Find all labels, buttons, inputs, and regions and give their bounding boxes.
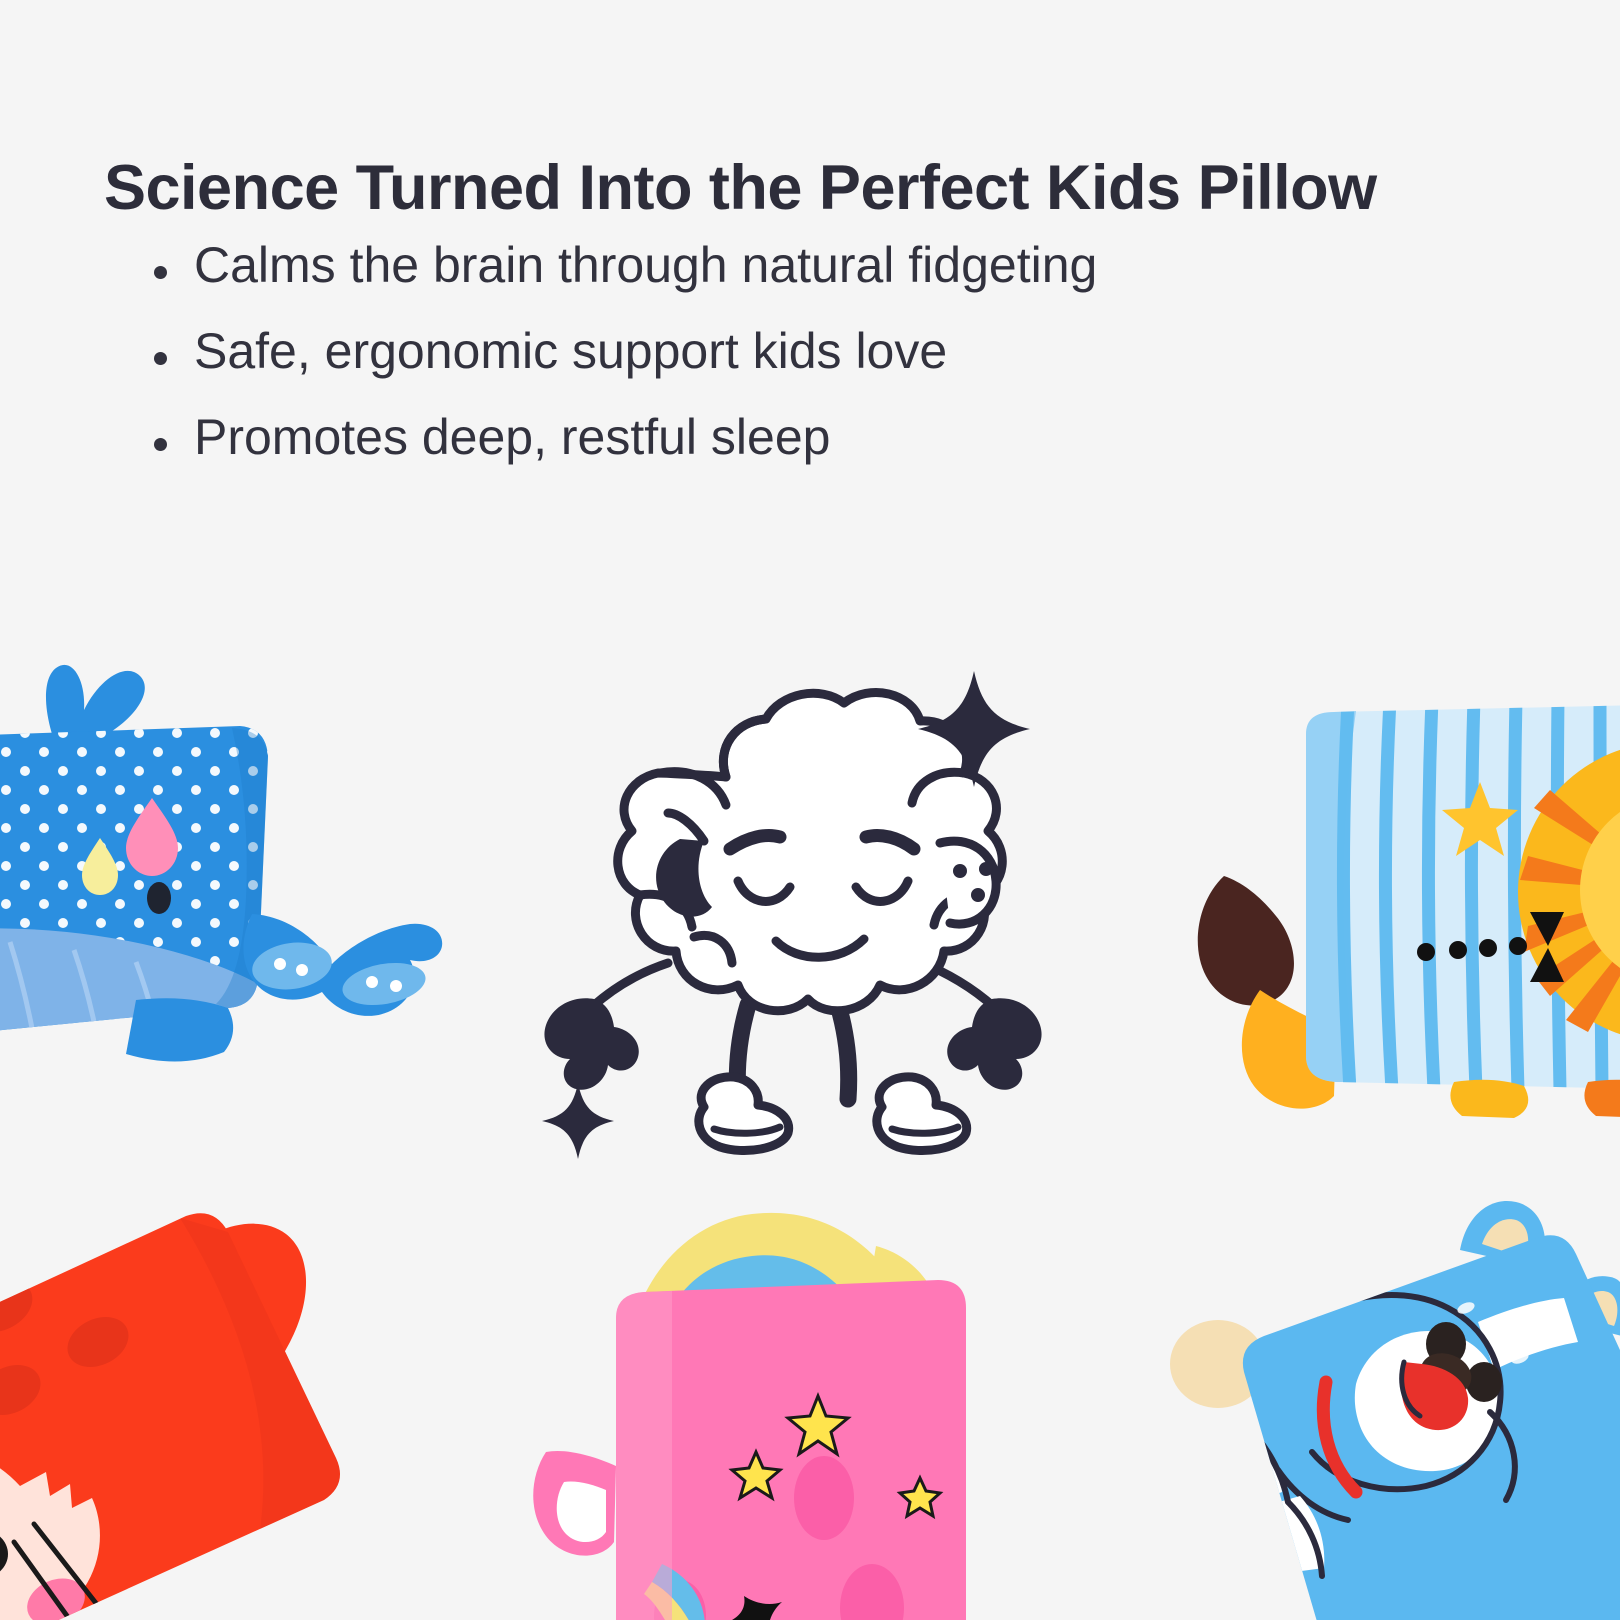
brain-character-image <box>508 655 1078 1160</box>
brain-left-hand <box>544 998 638 1090</box>
brain-right-leg <box>838 1005 849 1099</box>
whale-tail <box>243 914 442 1016</box>
list-item: Calms the brain through natural fidgetin… <box>146 240 1446 290</box>
benefits-list: Calms the brain through natural fidgetin… <box>146 240 1446 498</box>
list-item: Promotes deep, restful sleep <box>146 412 1446 462</box>
whale-fin <box>126 998 233 1061</box>
brain-left-foot <box>699 1077 789 1151</box>
promo-canvas: Science Turned Into the Perfect Kids Pil… <box>0 0 1620 1620</box>
dog-pillow-image <box>1160 1196 1620 1620</box>
brain-right-foot <box>877 1077 967 1151</box>
dog-right-eye <box>1466 1362 1502 1402</box>
list-item: Safe, ergonomic support kids love <box>146 326 1446 376</box>
unicorn-pillow-image <box>520 1198 980 1620</box>
brain-left-arm <box>592 963 668 1007</box>
unicorn-highlight <box>616 1291 672 1620</box>
fox-pillow-image <box>0 1190 370 1620</box>
page-title: Science Turned Into the Perfect Kids Pil… <box>104 154 1524 222</box>
sparkle-small-icon <box>542 1083 614 1159</box>
whale-pillow-image <box>0 648 440 1118</box>
brain-right-hand <box>947 998 1041 1090</box>
whale-eye <box>147 882 171 914</box>
lion-pillow-image <box>1168 690 1620 1120</box>
